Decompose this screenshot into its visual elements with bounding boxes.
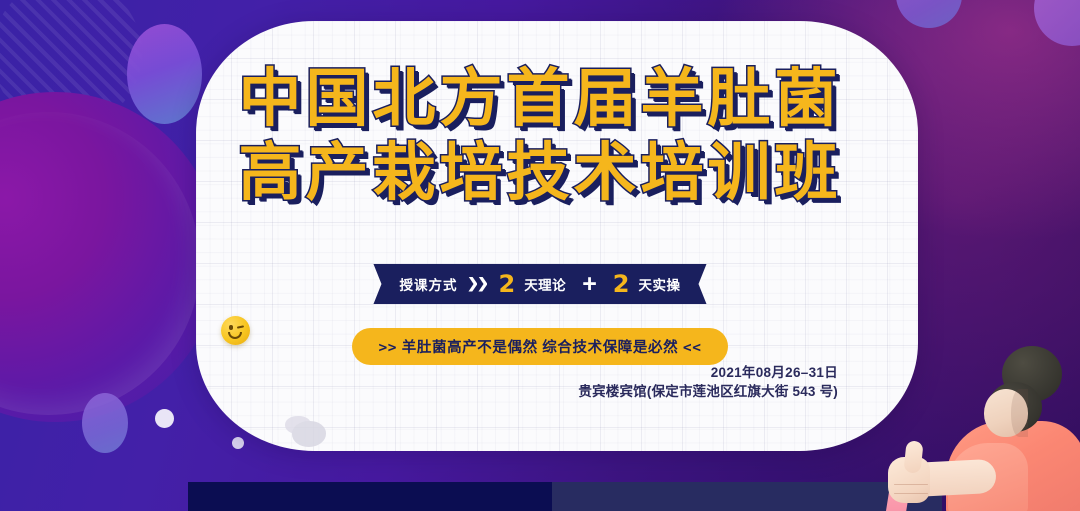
person-face-shade bbox=[1011, 389, 1028, 437]
fist-crease-1 bbox=[894, 484, 928, 486]
bottom-bar-right bbox=[552, 482, 942, 511]
circle-decor-right-edge bbox=[1034, 0, 1080, 46]
event-date: 2021年08月26–31日 bbox=[578, 363, 838, 382]
blob-decor bbox=[292, 421, 326, 447]
double-chevron-right-icon bbox=[468, 277, 487, 292]
ribbon-label: 授课方式 bbox=[399, 274, 457, 294]
fist-crease-2 bbox=[894, 493, 928, 495]
plus-separator: + bbox=[582, 272, 597, 297]
poster-banner: 中国北方首届羊肚菌 高产栽培技术培训班 授课方式 2 天理论 + 2 天实操 >… bbox=[0, 0, 1080, 511]
theory-days-number: 2 bbox=[498, 272, 515, 296]
teaching-method-ribbon: 授课方式 2 天理论 + 2 天实操 bbox=[0, 264, 1080, 304]
emoji-mouth bbox=[228, 332, 242, 339]
page-title: 中国北方首届羊肚菌 高产栽培技术培训班 bbox=[0, 62, 1080, 210]
white-dot-large-decor bbox=[155, 409, 174, 428]
emoji-eye-open bbox=[229, 325, 233, 330]
status-badge: >> 羊肚菌高产不是偶然 综合技术保障是必然 << bbox=[352, 328, 727, 365]
winking-face-emoji-icon bbox=[221, 316, 250, 345]
ribbon-banner: 授课方式 2 天理论 + 2 天实操 bbox=[373, 264, 706, 304]
event-venue: 贵宾楼宾馆(保定市莲池区红旗大街 543 号) bbox=[578, 382, 838, 401]
slogan-text: 羊肚菌高产不是偶然 综合技术保障是必然 bbox=[402, 340, 678, 356]
practice-days-unit: 天实操 bbox=[639, 274, 681, 294]
suffix-marks: << bbox=[683, 340, 702, 356]
title-line-1: 中国北方首届羊肚菌 bbox=[0, 62, 1080, 136]
emoji-eye-wink bbox=[237, 325, 244, 329]
practice-days-number: 2 bbox=[613, 272, 630, 296]
person-thumbs-up-illustration bbox=[890, 341, 1080, 511]
oval-decor-bottom bbox=[82, 393, 128, 453]
prefix-marks: >> bbox=[378, 340, 397, 356]
bottom-bar-left bbox=[188, 482, 552, 511]
title-line-2: 高产栽培技术培训班 bbox=[0, 136, 1080, 210]
event-meta: 2021年08月26–31日 贵宾楼宾馆(保定市莲池区红旗大街 543 号) bbox=[578, 363, 838, 401]
theory-days-unit: 天理论 bbox=[524, 274, 566, 294]
